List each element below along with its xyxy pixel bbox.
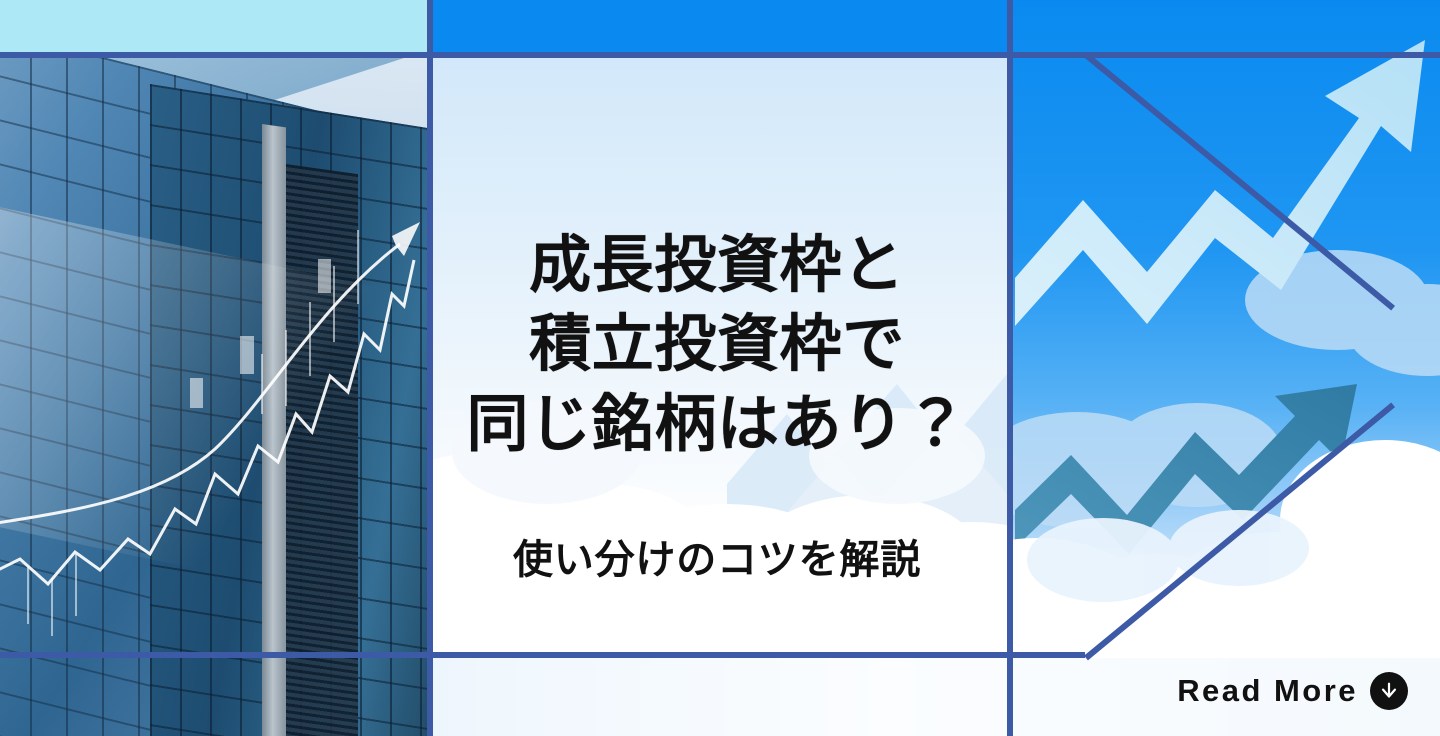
frame-line-horizontal-bottom bbox=[0, 652, 1085, 658]
page-subtitle: 使い分けのコツを解説 bbox=[427, 527, 1007, 585]
frame-line-horizontal-top bbox=[0, 52, 1440, 58]
arrows-illustration bbox=[1007, 0, 1440, 658]
headline-card: 成長投資枠と 積立投資枠で 同じ銘柄はあり？ 使い分けのコツを解説 bbox=[427, 54, 1007, 658]
article-thumbnail-card: 成長投資枠と 積立投資枠で 同じ銘柄はあり？ 使い分けのコツを解説 bbox=[0, 0, 1440, 736]
headline-line-3: 同じ銘柄はあり？ bbox=[427, 385, 1007, 464]
frame-line-vertical-left bbox=[427, 0, 433, 736]
chart-arrowhead bbox=[392, 222, 420, 256]
top-left-cyan-block bbox=[0, 0, 427, 54]
building-photo-panel bbox=[0, 54, 427, 736]
headline-line-2: 積立投資枠で bbox=[427, 305, 1007, 384]
page-title: 成長投資枠と 積立投資枠で 同じ銘柄はあり？ bbox=[427, 226, 1007, 464]
frame-line-vertical-middle bbox=[1007, 0, 1013, 736]
sky-arrows-graphic bbox=[1007, 0, 1440, 658]
read-more-label: Read More bbox=[1177, 673, 1358, 709]
arrow-down-circle-icon[interactable] bbox=[1370, 672, 1408, 710]
headline-line-1: 成長投資枠と bbox=[427, 226, 1007, 305]
read-more-button[interactable]: Read More bbox=[1177, 672, 1408, 710]
stock-chart-overlay bbox=[0, 54, 427, 736]
